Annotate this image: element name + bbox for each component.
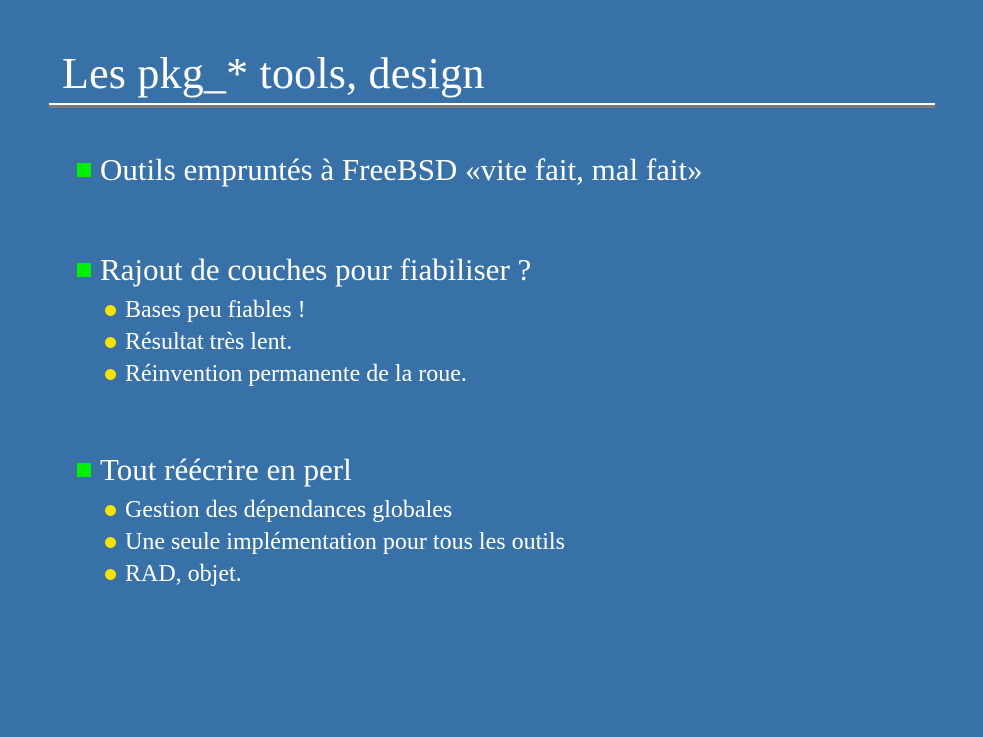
yellow-dot-bullet-icon bbox=[105, 305, 116, 316]
sub-list: Gestion des dépendances globales Une seu… bbox=[0, 494, 983, 590]
list-item: RAD, objet. bbox=[0, 558, 983, 590]
list-item: Bases peu fiables ! bbox=[0, 294, 983, 326]
presentation-slide: Les pkg_* tools, design Outils empruntés… bbox=[0, 0, 983, 737]
list-item: Réinvention permanente de la roue. bbox=[0, 358, 983, 390]
list-item: Tout réécrire en perl bbox=[0, 450, 983, 490]
page-title: Les pkg_* tools, design bbox=[62, 48, 485, 100]
group-spacer bbox=[0, 390, 983, 420]
bullet-group: Outils empruntés à FreeBSD «vite fait, m… bbox=[0, 150, 983, 190]
title-divider bbox=[49, 103, 935, 108]
list-item-label: Gestion des dépendances globales bbox=[125, 497, 452, 523]
list-item-label: Une seule implémentation pour tous les o… bbox=[125, 529, 565, 555]
slide-body: Outils empruntés à FreeBSD «vite fait, m… bbox=[0, 150, 983, 590]
yellow-dot-bullet-icon bbox=[105, 505, 116, 516]
bullet-group: Rajout de couches pour fiabiliser ? Base… bbox=[0, 250, 983, 390]
list-item-label: Outils empruntés à FreeBSD «vite fait, m… bbox=[100, 152, 703, 187]
list-item-label: Résultat très lent. bbox=[125, 329, 292, 355]
list-item-label: RAD, objet. bbox=[125, 561, 242, 587]
green-square-bullet-icon bbox=[77, 263, 91, 277]
list-item: Une seule implémentation pour tous les o… bbox=[0, 526, 983, 558]
sub-list: Bases peu fiables ! Résultat très lent. … bbox=[0, 294, 983, 390]
list-item: Résultat très lent. bbox=[0, 326, 983, 358]
list-item-label: Rajout de couches pour fiabiliser ? bbox=[100, 252, 531, 287]
title-divider-shadow bbox=[49, 105, 935, 108]
green-square-bullet-icon bbox=[77, 163, 91, 177]
list-item: Gestion des dépendances globales bbox=[0, 494, 983, 526]
bullet-group: Tout réécrire en perl Gestion des dépend… bbox=[0, 450, 983, 590]
group-spacer bbox=[0, 420, 983, 450]
yellow-dot-bullet-icon bbox=[105, 369, 116, 380]
group-spacer bbox=[0, 190, 983, 220]
list-item-label: Tout réécrire en perl bbox=[100, 452, 352, 487]
list-item: Outils empruntés à FreeBSD «vite fait, m… bbox=[0, 150, 983, 190]
list-item-label: Bases peu fiables ! bbox=[125, 297, 306, 323]
green-square-bullet-icon bbox=[77, 463, 91, 477]
yellow-dot-bullet-icon bbox=[105, 537, 116, 548]
yellow-dot-bullet-icon bbox=[105, 569, 116, 580]
list-item: Rajout de couches pour fiabiliser ? bbox=[0, 250, 983, 290]
group-spacer bbox=[0, 220, 983, 250]
list-item-label: Réinvention permanente de la roue. bbox=[125, 361, 467, 387]
yellow-dot-bullet-icon bbox=[105, 337, 116, 348]
